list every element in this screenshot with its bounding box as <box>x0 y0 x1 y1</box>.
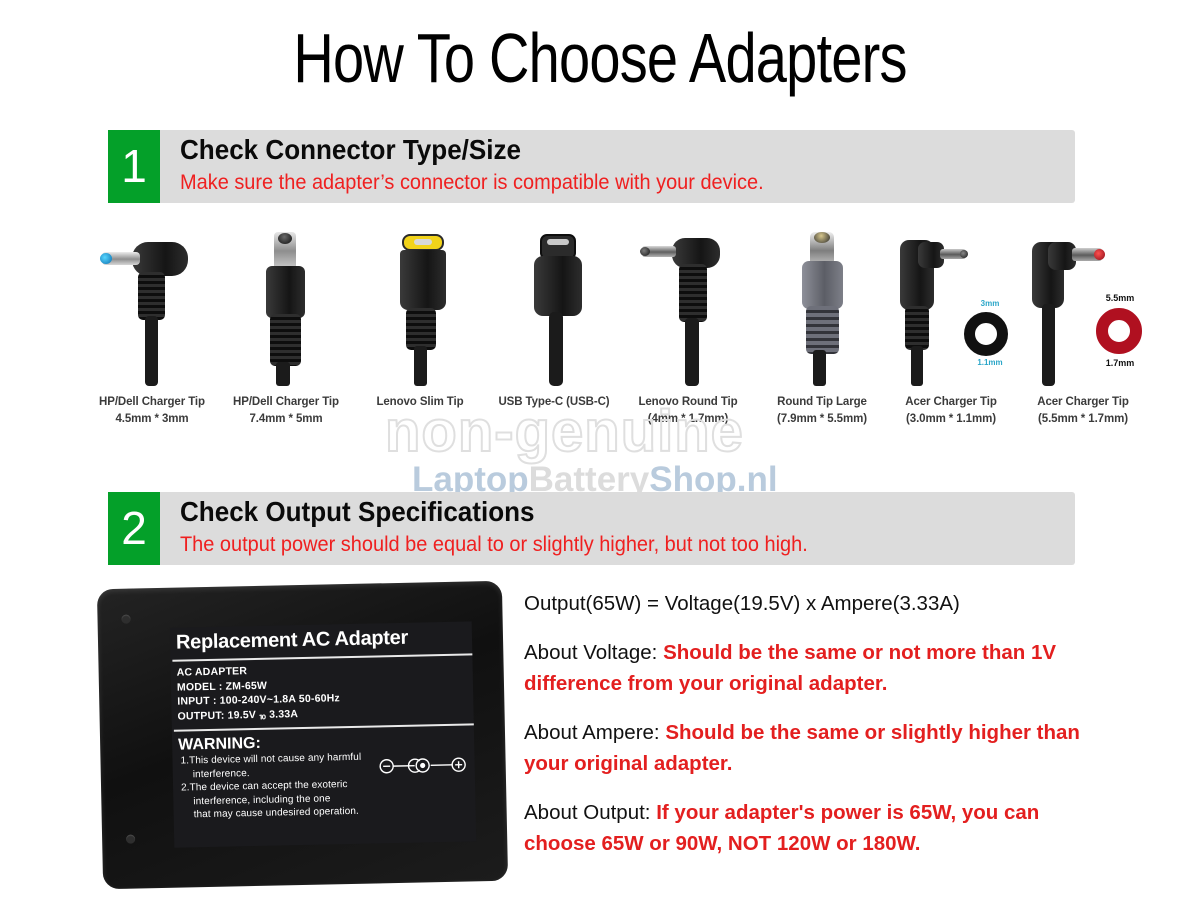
step-2-heading: Check Output Specifications <box>180 495 795 529</box>
infographic-page: How To Choose Adapters 1 Check Connector… <box>0 0 1200 900</box>
acer-55-outer-dimension-label: 5.5mm <box>1084 293 1156 303</box>
lenovo-slim-yellow-rectangular-tip-icon <box>356 228 484 386</box>
connector-caption: Lenovo Slim Tip <box>348 394 492 411</box>
connector-item-lenovo-slim[interactable]: Lenovo Slim Tip <box>356 228 484 438</box>
step-1-header-bar: 1 Check Connector Type/Size Make sure th… <box>108 130 1075 203</box>
hp-dell-right-angle-blue-tip-icon <box>88 228 216 386</box>
usb-type-c-connector-icon <box>490 228 618 386</box>
connector-caption: HP/Dell Charger Tip 7.4mm * 5mm <box>214 394 358 428</box>
lenovo-round-right-angle-tip-icon <box>624 228 752 386</box>
acer-right-angle-red-tip-icon: 5.5mm 1.7mm <box>1012 228 1162 386</box>
connector-caption: Round Tip Large (7.9mm * 5.5mm) <box>750 394 894 428</box>
adapter-label-title: Replacement AC Adapter <box>170 621 473 658</box>
warning-line-3: 2.The device can accept the exoteric <box>181 779 348 793</box>
output-specs-text: Output(65W) = Voltage(19.5V) x Ampere(3.… <box>524 588 1104 877</box>
acer-55-inner-dimension-label: 1.7mm <box>1084 358 1156 368</box>
step-1-subheading: Make sure the adapter’s connector is com… <box>180 168 764 198</box>
step-2-header-bar: 2 Check Output Specifications The output… <box>108 492 1075 565</box>
polarity-symbol-icon <box>378 756 466 776</box>
adapter-spec-label: Replacement AC Adapter AC ADAPTER MODEL … <box>170 621 477 847</box>
connector-item-usb-c[interactable]: USB Type-C (USB-C) <box>490 228 618 438</box>
ac-adapter-product-image: Replacement AC Adapter AC ADAPTER MODEL … <box>97 581 508 889</box>
step-2-number-badge: 2 <box>108 492 160 565</box>
connector-item-lenovo-round[interactable]: Lenovo Round Tip (4mm * 1.7mm) <box>624 228 752 438</box>
output-formula: Output(65W) = Voltage(19.5V) x Ampere(3.… <box>524 588 1104 619</box>
connector-caption: USB Type-C (USB-C) <box>482 394 626 411</box>
step-2-text-block: Check Output Specifications The output p… <box>180 495 841 560</box>
round-tip-large-gray-plug-icon <box>758 228 886 386</box>
connector-caption: HP/Dell Charger Tip 4.5mm * 3mm <box>80 394 224 428</box>
connector-item-hp-dell-45[interactable]: HP/Dell Charger Tip 4.5mm * 3mm <box>88 228 216 438</box>
about-output-line: About Output: If your adapter's power is… <box>524 797 1104 859</box>
about-voltage-label: About Voltage: <box>524 641 657 664</box>
about-output-label: About Output: <box>524 801 651 824</box>
warning-line-1: 1.This device will not cause any harmful <box>180 752 361 767</box>
about-ampere-line: About Ampere: Should be the same or slig… <box>524 717 1104 779</box>
connector-item-acer-55[interactable]: 5.5mm 1.7mm Acer Charger Tip (5.5mm * 1.… <box>1012 228 1162 438</box>
step-1-number-badge: 1 <box>108 130 160 203</box>
connector-gallery: HP/Dell Charger Tip 4.5mm * 3mm HP/Dell … <box>60 228 1150 438</box>
hp-dell-straight-barrel-tip-icon <box>222 228 350 386</box>
connector-caption: Lenovo Round Tip (4mm * 1.7mm) <box>616 394 760 428</box>
connector-item-hp-dell-74[interactable]: HP/Dell Charger Tip 7.4mm * 5mm <box>222 228 350 438</box>
acer-55-dimension-diagram: 5.5mm 1.7mm <box>1084 292 1156 378</box>
connector-caption: Acer Charger Tip (5.5mm * 1.7mm) <box>1008 394 1158 428</box>
connector-item-round-large[interactable]: Round Tip Large (7.9mm * 5.5mm) <box>758 228 886 438</box>
step-1-heading: Check Connector Type/Size <box>180 133 751 167</box>
step-2-subheading: The output power should be equal to or s… <box>180 530 808 560</box>
connector-caption: Acer Charger Tip (3.0mm * 1.1mm) <box>876 394 1026 428</box>
about-voltage-line: About Voltage: Should be the same or not… <box>524 637 1104 699</box>
page-title: How To Choose Adapters <box>120 18 1080 98</box>
step-1-text-block: Check Connector Type/Size Make sure the … <box>180 133 794 198</box>
acer-right-angle-tip-icon: 3mm 1.1mm <box>880 228 1030 386</box>
about-ampere-label: About Ampere: <box>524 721 660 744</box>
